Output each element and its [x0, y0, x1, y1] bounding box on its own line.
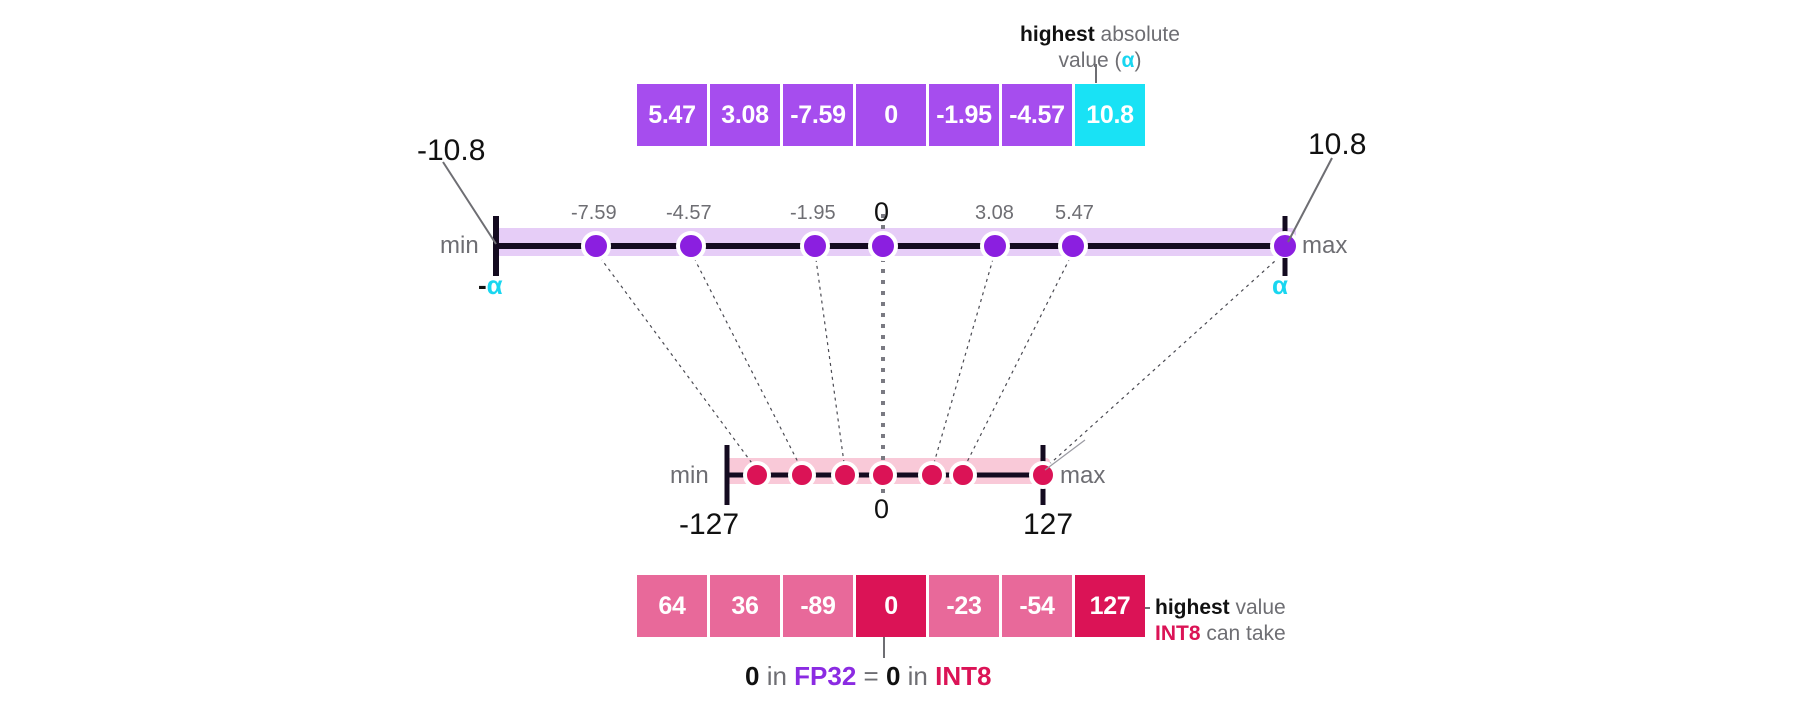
fp32-zero-label: 0	[874, 197, 889, 228]
fp32-max-label: max	[1302, 232, 1347, 260]
fp32-max-value-label: 10.8	[1308, 128, 1366, 162]
leader-max-value	[1288, 158, 1332, 242]
int8-value-row: 64 36 -89 0 -23 -54 127	[637, 575, 1145, 637]
int8-annotation-line2: can take	[1201, 622, 1286, 645]
int8-cell[interactable]: 36	[710, 575, 780, 637]
fp32-min-label: min	[440, 232, 479, 260]
int8-max-label: max	[1060, 462, 1105, 490]
in-word-1: in	[759, 661, 794, 691]
fp32-tick-label: 3.08	[975, 202, 1014, 225]
mapping-lines	[596, 252, 1285, 470]
int8-cell[interactable]: -89	[783, 575, 853, 637]
fp32-max-alpha-label: α	[1272, 270, 1288, 301]
fp32-tick-label: -1.95	[790, 202, 836, 225]
int8-min-value-label: -127	[679, 508, 739, 542]
zero-equivalence-caption: 0 in FP32 = 0 in INT8	[745, 661, 991, 692]
int8-annotation-rest: value	[1230, 596, 1286, 619]
int8-cell-max[interactable]: 127	[1075, 575, 1145, 637]
int8-cell[interactable]: -54	[1002, 575, 1072, 637]
fp32-tick-label: -4.57	[666, 202, 712, 225]
alpha-annotation: highest absolute value (α)	[1020, 22, 1180, 75]
zero-fp32: 0	[745, 661, 759, 691]
int8-tag: INT8	[1155, 622, 1201, 645]
fp32-cell[interactable]: -4.57	[1002, 84, 1072, 146]
int8-cell[interactable]: 64	[637, 575, 707, 637]
minus-sign: -	[478, 270, 487, 300]
alpha-annotation-line2-pre: value (	[1059, 49, 1122, 72]
int8-max-annotation: highest value INT8 can take	[1155, 595, 1286, 648]
int8-cell-zero[interactable]: 0	[856, 575, 926, 637]
int8-zero-label: 0	[874, 494, 889, 525]
in-word-2: in	[900, 661, 935, 691]
fp32-min-alpha-label: -α	[478, 270, 503, 301]
fp32-cell[interactable]: 0	[856, 84, 926, 146]
fp32-value-row: 5.47 3.08 -7.59 0 -1.95 -4.57 10.8	[637, 84, 1145, 146]
alpha-annotation-rest: absolute	[1095, 23, 1180, 46]
alpha-annotation-line2-post: )	[1134, 49, 1141, 72]
fp32-min-value-label: -10.8	[417, 134, 485, 168]
int8-min-label: min	[670, 462, 709, 490]
fp32-cell[interactable]: 5.47	[637, 84, 707, 146]
int8-max-value-label: 127	[1023, 508, 1073, 542]
equals-sign: =	[856, 661, 886, 691]
alpha-symbol: α	[1122, 49, 1135, 72]
int8-annotation-bold: highest	[1155, 596, 1230, 619]
alpha-annotation-bold: highest	[1020, 23, 1095, 46]
fp32-cell[interactable]: 3.08	[710, 84, 780, 146]
alpha-symbol-min: α	[487, 270, 503, 300]
fp32-tick-label: 5.47	[1055, 202, 1094, 225]
fp32-cell[interactable]: -1.95	[929, 84, 999, 146]
fp32-cell[interactable]: -7.59	[783, 84, 853, 146]
diagram-canvas: highest absolute value (α) 5.47 3.08 -7.…	[0, 0, 1816, 708]
fp32-tag: FP32	[794, 661, 856, 691]
int8-tag-caption: INT8	[935, 661, 991, 691]
int8-cell[interactable]: -23	[929, 575, 999, 637]
fp32-cell-alpha[interactable]: 10.8	[1075, 84, 1145, 146]
fp32-tick-label: -7.59	[571, 202, 617, 225]
zero-int8: 0	[886, 661, 900, 691]
